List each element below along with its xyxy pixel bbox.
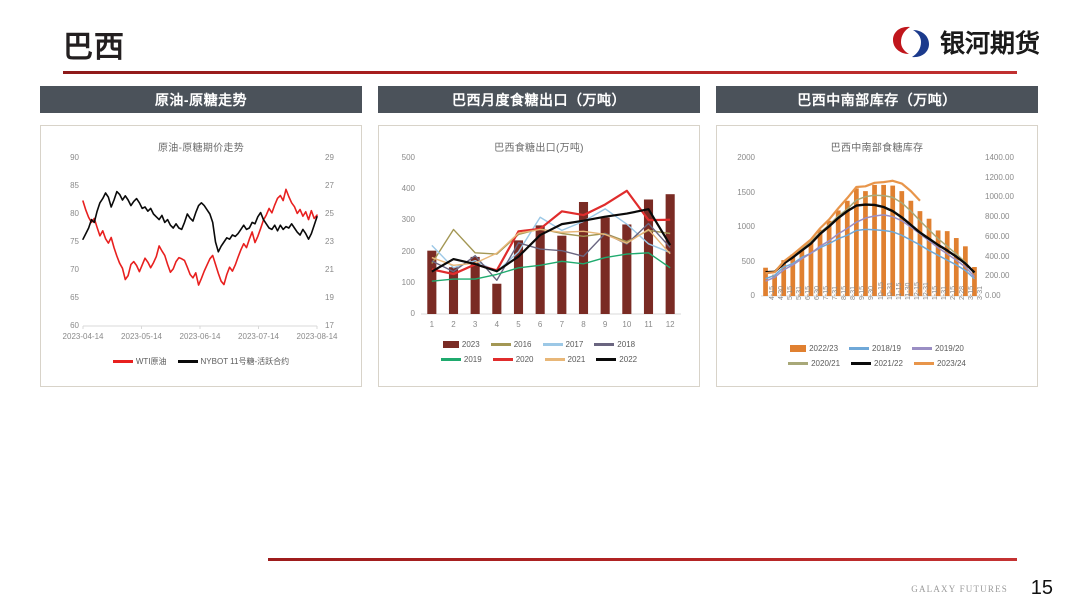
- x-axis-tick: 11-30: [905, 283, 912, 300]
- y-axis-tick: 100: [389, 278, 415, 287]
- brand-name: 银河期货: [940, 24, 1040, 60]
- y-axis-right-tick: 1000.00: [985, 192, 1014, 201]
- y-axis-left-tick: 65: [57, 293, 79, 302]
- legend-label: 2019: [464, 355, 482, 364]
- legend-label: NYBOT 11号糖-活跃合约: [201, 356, 290, 367]
- x-axis-tick: 9: [603, 320, 607, 329]
- y-axis-tick: 300: [389, 215, 415, 224]
- x-axis-tick: 11-15: [896, 283, 903, 300]
- x-axis-tick: 2023-04-14: [63, 332, 104, 341]
- legend-label: 2022: [619, 355, 637, 364]
- plot-area: 0100200300400500123456789101112202320162…: [379, 152, 699, 388]
- legend-item[interactable]: 2023/24: [914, 359, 966, 368]
- x-axis-tick: 10-31: [887, 282, 894, 300]
- chart-crude-vs-sugar: 原油-原糖期价走势 606570758085901719212325272920…: [40, 125, 362, 387]
- panel-monthly-sugar-export: 巴西月度食糖出口（万吨） 巴西食糖出口(万吨) 0100200300400500…: [378, 86, 700, 387]
- x-axis-tick: 10: [622, 320, 631, 329]
- x-axis-tick: 1-31: [941, 286, 948, 300]
- x-axis-tick: 5-15: [787, 286, 794, 300]
- x-axis-tick: 2: [451, 320, 455, 329]
- y-axis-right-tick: 27: [325, 181, 334, 190]
- x-axis-tick: 6-30: [814, 286, 821, 300]
- x-axis-tick: 3: [473, 320, 477, 329]
- legend-swatch: [790, 345, 806, 352]
- x-axis-tick: 2023-07-14: [238, 332, 279, 341]
- x-axis-tick: 9-30: [868, 286, 875, 300]
- y-axis-right-tick: 600.00: [985, 232, 1009, 241]
- page-number: 15: [1031, 577, 1053, 600]
- legend-swatch: [851, 362, 871, 365]
- legend-item[interactable]: 2017: [543, 340, 584, 349]
- legend-item[interactable]: 2021/22: [851, 359, 903, 368]
- legend-label: 2018: [617, 340, 635, 349]
- y-axis-left-tick: 80: [57, 209, 79, 218]
- y-axis-tick: 500: [389, 153, 415, 162]
- legend-swatch: [596, 358, 616, 361]
- y-axis-left-tick: 1500: [725, 188, 755, 197]
- legend-swatch: [441, 358, 461, 361]
- x-axis-tick: 7-31: [832, 286, 839, 300]
- y-axis-left-tick: 85: [57, 181, 79, 190]
- legend-swatch: [594, 343, 614, 346]
- x-axis-tick: 2023-08-14: [297, 332, 338, 341]
- legend-swatch: [849, 347, 869, 350]
- legend-swatch: [443, 341, 459, 348]
- legend-swatch: [113, 360, 133, 363]
- y-axis-right-tick: 200.00: [985, 271, 1009, 280]
- x-axis-tick: 2023-06-14: [180, 332, 221, 341]
- legend-swatch: [914, 362, 934, 365]
- legend-item[interactable]: NYBOT 11号糖-活跃合约: [178, 356, 290, 367]
- x-axis-tick: 2023-05-14: [121, 332, 162, 341]
- legend-item[interactable]: 2022/23: [790, 344, 838, 353]
- legend-label: 2016: [514, 340, 532, 349]
- legend-label: 2023: [462, 340, 480, 349]
- legend-label: 2021/22: [874, 359, 903, 368]
- legend-label: 2018/19: [872, 344, 901, 353]
- x-axis-tick: 8-31: [850, 286, 857, 300]
- x-axis-tick: 10-15: [878, 282, 885, 300]
- x-axis-tick: 12-15: [914, 282, 921, 300]
- legend-item[interactable]: 2018: [594, 340, 635, 349]
- panel-header-crude-vs-sugar: 原油-原糖走势: [40, 86, 362, 113]
- legend-item[interactable]: 2019/20: [912, 344, 964, 353]
- chart-legend: 2022/232018/192019/202020/212021/222023/…: [717, 344, 1037, 368]
- legend-swatch: [491, 343, 511, 346]
- y-axis-left-tick: 0: [725, 291, 755, 300]
- y-axis-right-tick: 400.00: [985, 252, 1009, 261]
- legend-label: 2019/20: [935, 344, 964, 353]
- panel-header-cs-brazil-stocks: 巴西中南部库存（万吨）: [716, 86, 1038, 113]
- y-axis-right-tick: 29: [325, 153, 334, 162]
- y-axis-left-tick: 500: [725, 257, 755, 266]
- legend-label: 2020/21: [811, 359, 840, 368]
- chart-title: 巴西食糖出口(万吨): [379, 126, 699, 154]
- legend-label: WTI原油: [136, 356, 167, 367]
- x-axis-tick: 2-15: [950, 286, 957, 300]
- x-axis-tick: 3-15: [968, 286, 975, 300]
- y-axis-left-tick: 90: [57, 153, 79, 162]
- legend-swatch: [493, 358, 513, 361]
- y-axis-tick: 400: [389, 184, 415, 193]
- chart-title: 原油-原糖期价走势: [41, 126, 361, 154]
- plot-area: 60657075808590171921232527292023-04-1420…: [41, 152, 361, 388]
- panel-cs-brazil-stocks: 巴西中南部库存（万吨） 巴西中南部食糖库存 05001000150020000.…: [716, 86, 1038, 387]
- y-axis-left-tick: 1000: [725, 222, 755, 231]
- x-axis-tick: 12-31: [923, 282, 930, 300]
- legend-label: 2021: [568, 355, 586, 364]
- legend-item[interactable]: 2016: [491, 340, 532, 349]
- legend-label: 2023/24: [937, 359, 966, 368]
- legend-label: 2017: [566, 340, 584, 349]
- panel-crude-vs-sugar: 原油-原糖走势 原油-原糖期价走势 6065707580859017192123…: [40, 86, 362, 387]
- x-axis-tick: 4: [495, 320, 499, 329]
- legend-item[interactable]: WTI原油: [113, 356, 167, 367]
- legend-item[interactable]: 2020: [493, 355, 534, 364]
- x-axis-tick: 4-30: [778, 286, 785, 300]
- x-axis-tick: 2-28: [959, 286, 966, 300]
- x-axis-tick: 11: [644, 320, 652, 329]
- x-axis-tick: 1: [430, 320, 434, 329]
- brand-logo: 银河期货: [891, 24, 1040, 60]
- x-axis-tick: 9-15: [859, 286, 866, 300]
- x-axis-tick: 6: [538, 320, 542, 329]
- y-axis-left-tick: 75: [57, 237, 79, 246]
- chart-monthly-sugar-export: 巴西食糖出口(万吨) 01002003004005001234567891011…: [378, 125, 700, 387]
- x-axis-tick: 12: [666, 320, 675, 329]
- legend-label: 2022/23: [809, 344, 838, 353]
- x-axis-tick: 7-15: [823, 286, 830, 300]
- galaxy-swirl-logo-icon: [891, 24, 931, 60]
- panel-header-monthly-sugar-export: 巴西月度食糖出口（万吨）: [378, 86, 700, 113]
- y-axis-right-tick: 800.00: [985, 212, 1009, 221]
- x-axis-tick: 7: [560, 320, 564, 329]
- legend-item[interactable]: 2022: [596, 355, 637, 364]
- chart-legend: 20232016201720182019202020212022: [379, 340, 699, 364]
- legend-swatch: [543, 343, 563, 346]
- legend-swatch: [912, 347, 932, 350]
- y-axis-left-tick: 70: [57, 265, 79, 274]
- x-axis-tick: 8: [581, 320, 585, 329]
- x-axis-tick: 8-15: [841, 286, 848, 300]
- y-axis-right-tick: 0.00: [985, 291, 1001, 300]
- panel-row: 原油-原糖走势 原油-原糖期价走势 6065707580859017192123…: [40, 86, 1040, 387]
- y-axis-right-tick: 1200.00: [985, 173, 1014, 182]
- y-axis-tick: 200: [389, 247, 415, 256]
- legend-item[interactable]: 2021: [545, 355, 586, 364]
- legend-item[interactable]: 2020/21: [788, 359, 840, 368]
- legend-item[interactable]: 2018/19: [849, 344, 901, 353]
- y-axis-left-tick: 60: [57, 321, 79, 330]
- legend-item[interactable]: 2019: [441, 355, 482, 364]
- legend-swatch: [545, 358, 565, 361]
- y-axis-right-tick: 25: [325, 209, 334, 218]
- x-axis-tick: 6-15: [805, 286, 812, 300]
- y-axis-tick: 0: [389, 309, 415, 318]
- x-axis-tick: 3-31: [977, 286, 984, 300]
- title-divider: [63, 71, 1017, 74]
- legend-swatch: [788, 362, 808, 365]
- legend-label: 2020: [516, 355, 534, 364]
- legend-item[interactable]: 2023: [443, 340, 480, 349]
- footer-divider: [268, 558, 1017, 561]
- plot-area: 05001000150020000.00200.00400.00600.0080…: [717, 152, 1037, 388]
- x-axis-tick: 4-15: [769, 286, 776, 300]
- legend-swatch: [178, 360, 198, 363]
- chart-legend: WTI原油NYBOT 11号糖-活跃合约: [41, 356, 361, 367]
- x-axis-tick: 5: [516, 320, 520, 329]
- y-axis-right-tick: 21: [325, 265, 334, 274]
- y-axis-left-tick: 2000: [725, 153, 755, 162]
- y-axis-right-tick: 1400.00: [985, 153, 1014, 162]
- y-axis-right-tick: 17: [325, 321, 334, 330]
- chart-cs-brazil-stocks: 巴西中南部食糖库存 05001000150020000.00200.00400.…: [716, 125, 1038, 387]
- x-axis-tick: 1-15: [932, 286, 939, 300]
- y-axis-right-tick: 19: [325, 293, 334, 302]
- y-axis-right-tick: 23: [325, 237, 334, 246]
- footer-english-name: GALAXY FUTURES: [911, 584, 1008, 594]
- chart-title: 巴西中南部食糖库存: [717, 126, 1037, 154]
- x-axis-tick: 5-31: [796, 286, 803, 300]
- page-title: 巴西: [63, 22, 125, 66]
